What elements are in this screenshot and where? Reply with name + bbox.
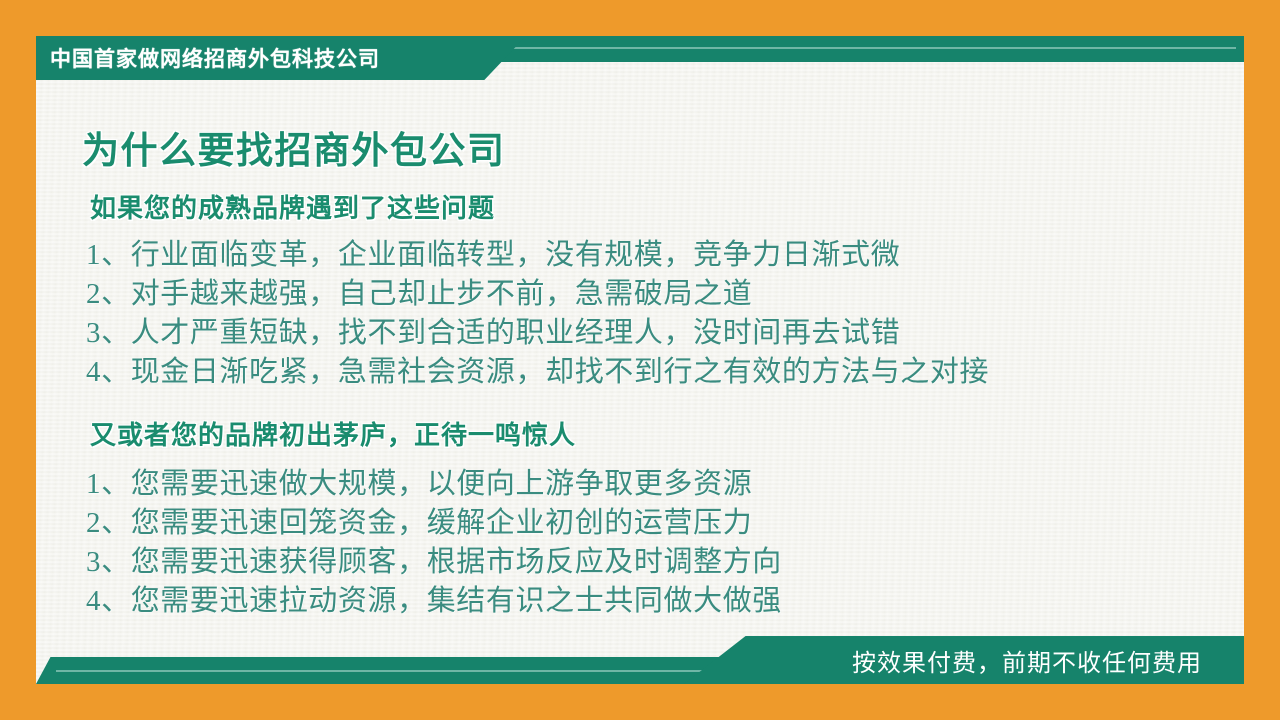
header-tagline-block: 中国首家做网络招商外包科技公司 <box>36 36 526 80</box>
section-1-list: 1、行业面临变革，企业面临转型，没有规模，竞争力日渐式微 2、对手越来越强，自己… <box>86 236 989 392</box>
slide-root: 中国首家做网络招商外包科技公司 为什么要找招商外包公司 如果您的成熟品牌遇到了这… <box>0 0 1280 720</box>
slide-content: 为什么要找招商外包公司 如果您的成熟品牌遇到了这些问题 1、行业面临变革，企业面… <box>36 88 1244 644</box>
list-item: 4、您需要迅速拉动资源，集结有识之士共同做大做强 <box>86 582 782 621</box>
list-item: 4、现金日渐吃紧，急需社会资源，却找不到行之有效的方法与之对接 <box>86 353 989 392</box>
list-item: 1、行业面临变革，企业面临转型，没有规模，竞争力日渐式微 <box>86 236 989 275</box>
footer-band: 按效果付费，前期不收任何费用 <box>36 622 1244 684</box>
section-2-subtitle: 又或者您的品牌初出茅庐，正待一鸣惊人 <box>90 415 576 452</box>
footer-tagline-block: 按效果付费，前期不收任何费用 <box>684 636 1244 684</box>
list-item: 3、您需要迅速获得顾客，根据市场反应及时调整方向 <box>86 543 782 582</box>
header-tagline: 中国首家做网络招商外包科技公司 <box>36 43 380 73</box>
section-2-list: 1、您需要迅速做大规模，以便向上游争取更多资源 2、您需要迅速回笼资金，缓解企业… <box>86 465 782 621</box>
footer-tagline: 按效果付费，前期不收任何费用 <box>852 643 1244 678</box>
header-band: 中国首家做网络招商外包科技公司 <box>36 36 1244 80</box>
list-item: 3、人才严重短缺，找不到合适的职业经理人，没时间再去试错 <box>86 314 989 353</box>
list-item: 1、您需要迅速做大规模，以便向上游争取更多资源 <box>86 465 782 504</box>
section-1-subtitle: 如果您的成熟品牌遇到了这些问题 <box>90 188 495 225</box>
page-title: 为什么要找招商外包公司 <box>82 120 506 174</box>
list-item: 2、您需要迅速回笼资金，缓解企业初创的运营压力 <box>86 504 782 543</box>
list-item: 2、对手越来越强，自己却止步不前，急需破局之道 <box>86 275 989 314</box>
